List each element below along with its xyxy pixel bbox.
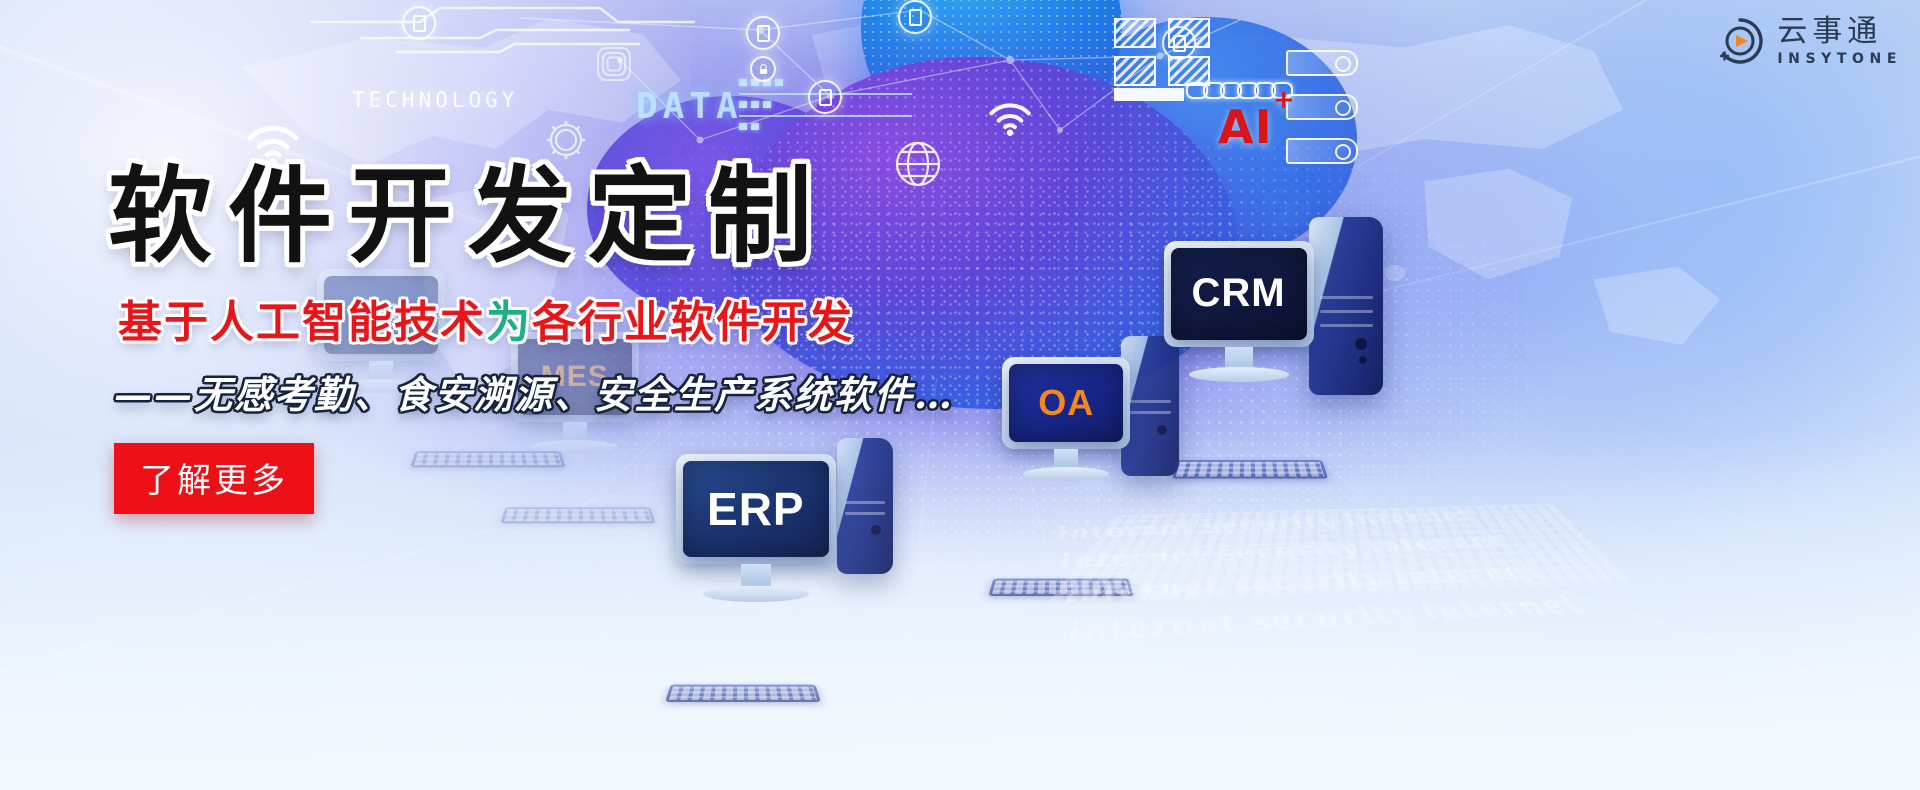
ai-text: AI xyxy=(1218,100,1273,154)
logo-wordmark: 云事通 INSYTONE xyxy=(1777,17,1902,66)
monitor-erp-neck xyxy=(741,564,771,586)
logo-english-name: INSYTONE xyxy=(1777,52,1902,66)
monitor-crm: CRM xyxy=(1164,241,1314,382)
keyboard-erp xyxy=(665,685,821,702)
ai-superscript: + xyxy=(1273,85,1296,115)
monitor-crm-screen: CRM xyxy=(1171,248,1307,340)
wifi-icon-right xyxy=(988,102,1032,136)
logo-chinese-name: 云事通 xyxy=(1777,17,1902,47)
monitor-erp-base xyxy=(703,586,809,602)
hero-subtitle: 基于人工智能技术为各行业软件开发 xyxy=(118,286,1008,350)
monitor-crm-bezel: CRM xyxy=(1164,241,1314,347)
monitor-oa: OA xyxy=(1002,357,1130,481)
monitor-oa-base xyxy=(1023,467,1109,481)
monitor-oa-neck xyxy=(1054,449,1078,467)
ai-plus-label: AI+ xyxy=(1218,100,1296,154)
hero-subtitle-part2: 各行业软件开发 xyxy=(532,297,854,348)
circle-play-icon xyxy=(1715,16,1765,66)
hero-tagline: ——无感考勤、食安溯源、安全生产系统软件… xyxy=(114,364,1008,419)
dotted-block-bar xyxy=(1114,88,1184,101)
page-title: 软件开发定制 xyxy=(108,160,1008,272)
device-pin-icon-1 xyxy=(402,6,436,40)
monitor-oa-screen: OA xyxy=(1009,364,1123,442)
keyboard-crm xyxy=(1172,460,1328,478)
hero-banner: TECHNOLOGY DATA AI+ HR MES CR xyxy=(0,0,1920,790)
hexagon-outline-icon xyxy=(592,42,636,86)
learn-more-button[interactable]: 了解更多 xyxy=(114,443,314,514)
hero-subtitle-accent: 为 xyxy=(486,297,532,348)
monitor-oa-bezel: OA xyxy=(1002,357,1130,449)
technology-label: TECHNOLOGY xyxy=(352,88,518,112)
hero-copy-block: 软件开发定制 基于人工智能技术为各行业软件开发 ——无感考勤、食安溯源、安全生产… xyxy=(108,160,1008,514)
hero-subtitle-part1: 基于人工智能技术 xyxy=(118,297,486,348)
device-pin-icon-4 xyxy=(898,0,932,34)
monitor-crm-base xyxy=(1189,367,1289,382)
lock-pin-icon xyxy=(750,56,776,82)
brand-logo[interactable]: 云事通 INSYTONE xyxy=(1715,16,1902,66)
pc-tower-crm xyxy=(1309,217,1383,395)
monitor-crm-neck xyxy=(1225,347,1253,367)
device-pin-icon-3 xyxy=(808,80,842,114)
dotted-square-blocks xyxy=(1114,18,1208,86)
data-label: DATA xyxy=(636,86,743,127)
device-pin-icon-2 xyxy=(746,16,780,50)
chip-icon-stack xyxy=(1286,50,1358,182)
